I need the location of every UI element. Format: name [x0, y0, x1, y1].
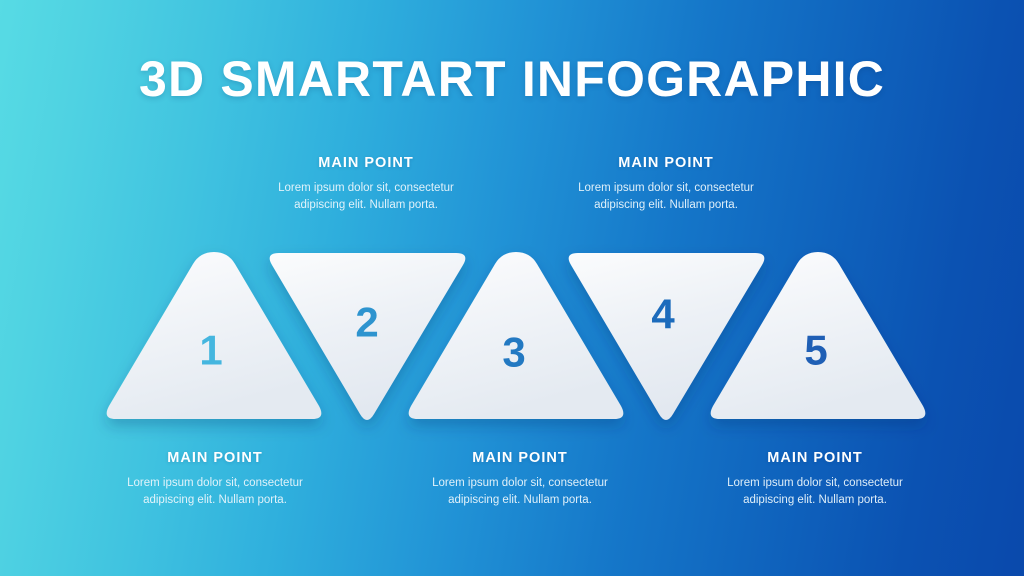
point-body-5: Lorem ipsum dolor sit, consectetur adipi…: [700, 475, 930, 510]
point-body-1: Lorem ipsum dolor sit, consectetur adipi…: [100, 475, 330, 510]
infographic-slide: 3D SMARTART INFOGRAPHIC MAIN POINT Lorem…: [0, 0, 1024, 576]
point-body-2: Lorem ipsum dolor sit, consectetur adipi…: [251, 180, 481, 215]
point-heading-3: MAIN POINT: [405, 450, 635, 466]
point-body-4: Lorem ipsum dolor sit, consectetur adipi…: [551, 180, 781, 215]
point-heading-1: MAIN POINT: [100, 450, 330, 466]
point-heading-5: MAIN POINT: [700, 450, 930, 466]
point-body-3: Lorem ipsum dolor sit, consectetur adipi…: [405, 475, 635, 510]
point-block-5: MAIN POINT Lorem ipsum dolor sit, consec…: [700, 450, 930, 510]
point-heading-4: MAIN POINT: [551, 155, 781, 171]
point-heading-2: MAIN POINT: [251, 155, 481, 171]
point-block-1: MAIN POINT Lorem ipsum dolor sit, consec…: [100, 450, 330, 510]
page-title: 3D SMARTART INFOGRAPHIC: [0, 52, 1024, 106]
point-block-2: MAIN POINT Lorem ipsum dolor sit, consec…: [251, 155, 481, 215]
point-block-4: MAIN POINT Lorem ipsum dolor sit, consec…: [551, 155, 781, 215]
point-block-3: MAIN POINT Lorem ipsum dolor sit, consec…: [405, 450, 635, 510]
